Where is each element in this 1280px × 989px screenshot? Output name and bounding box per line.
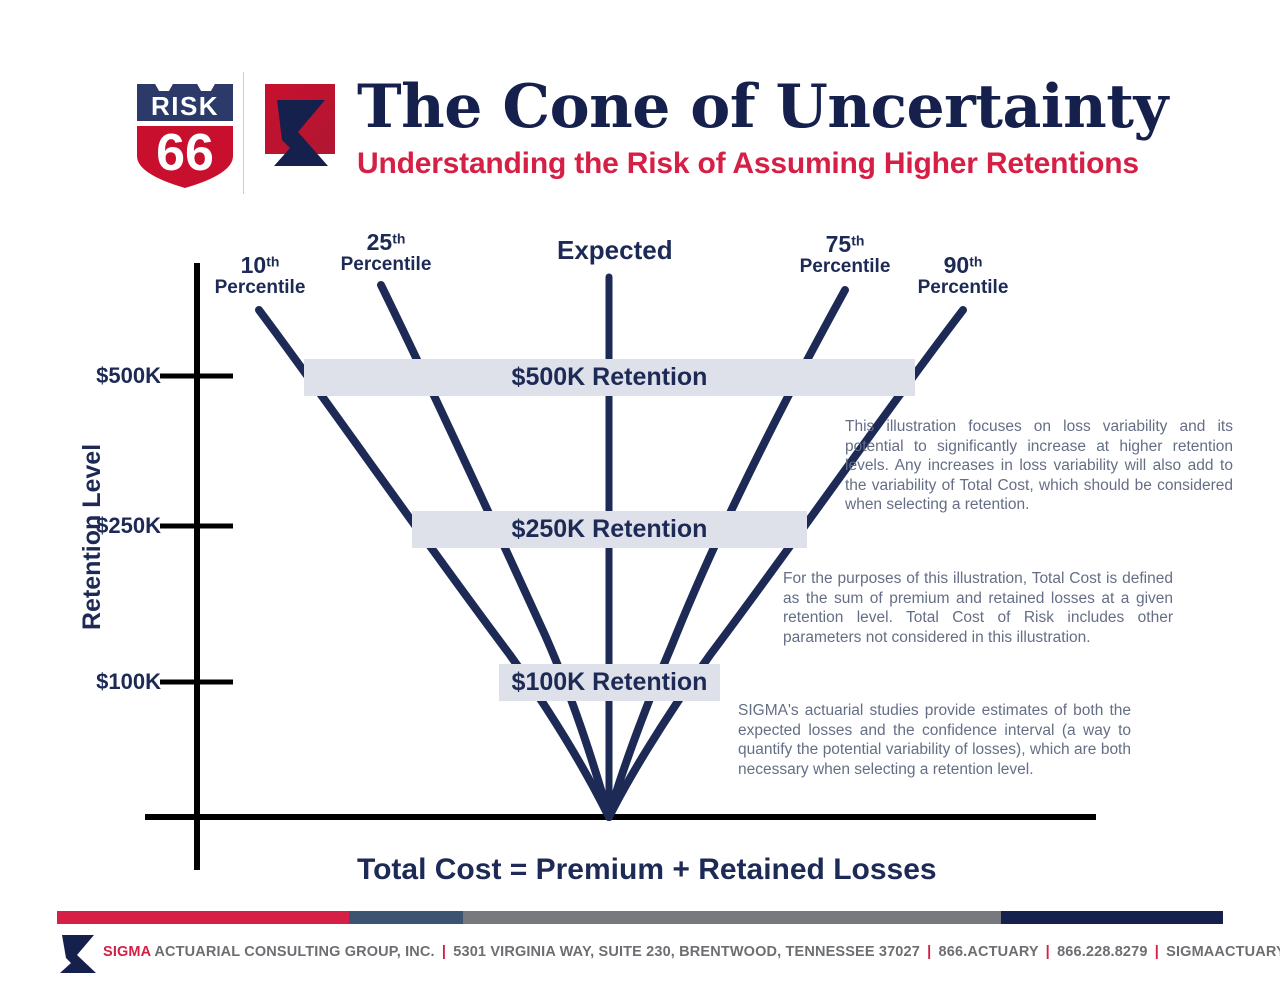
label-90th-suffix: th [969,254,982,270]
label-25th-number: 25 [367,229,393,255]
cone-chart: 10th Percentile 25th Percentile Expected… [0,205,1280,905]
footer-company: ACTUARIAL CONSULTING GROUP, INC. [151,944,439,960]
label-75th-word: Percentile [799,257,891,278]
footer-brand: SIGMA [103,944,151,960]
footer-rule-slate [349,911,463,924]
retention-band-250k: $250K Retention [412,511,807,548]
label-75th-number: 75 [826,231,852,257]
label-25th-percentile: 25th Percentile [340,230,432,275]
x-axis-title: Total Cost = Premium + Retained Losses [357,853,937,887]
footer-rule-navy [1001,911,1223,924]
label-10th-percentile: 10th Percentile [214,253,306,298]
footer-contact-line: SIGMA ACTUARIAL CONSULTING GROUP, INC. |… [103,944,1280,960]
retention-band-100k-label: $100K Retention [512,668,708,697]
label-90th-word: Percentile [917,278,1009,299]
label-10th-number: 10 [241,252,267,278]
footer-sigma-icon [58,932,98,976]
y-tick-label-500k: $500K [26,363,161,389]
page-subtitle: Understanding the Risk of Assuming Highe… [357,146,1217,182]
footer-address: 5301 VIRGINIA WAY, SUITE 230, BRENTWOOD,… [449,944,924,960]
note-total-cost-definition: For the purposes of this illustration, T… [783,569,1173,647]
label-90th-percentile: 90th Percentile [917,253,1009,298]
retention-band-100k: $100K Retention [499,664,720,701]
label-10th-suffix: th [266,254,279,270]
label-75th-percentile: 75th Percentile [799,232,891,277]
risk66-logo: RISK 66 [133,78,237,190]
infographic-page: RISK 66 The Cone of Uncertainty Understa… [0,0,1280,989]
y-axis-title: Retention Level [78,444,107,630]
y-tick-label-100k: $100K [26,669,161,695]
footer-rule-crimson [57,911,349,924]
footer-color-rule [57,911,1223,924]
footer-rule-gray [463,911,1002,924]
risk66-top-text: RISK [151,91,219,121]
footer-phone-word[interactable]: 866.ACTUARY [934,944,1042,960]
footer: SIGMA ACTUARIAL CONSULTING GROUP, INC. |… [0,905,1280,989]
label-25th-word: Percentile [340,255,432,276]
label-25th-suffix: th [392,231,405,247]
retention-band-500k-label: $500K Retention [512,363,708,392]
retention-band-250k-label: $250K Retention [512,515,708,544]
note-loss-variability: This illustration focuses on loss variab… [845,417,1233,515]
label-10th-word: Percentile [214,278,306,299]
header: RISK 66 The Cone of Uncertainty Understa… [0,0,1280,205]
sigma-logo-icon [260,82,342,172]
footer-sep-4: | [1152,944,1162,960]
title-block: The Cone of Uncertainty Understanding th… [357,74,1217,182]
label-75th-suffix: th [851,233,864,249]
label-expected: Expected [557,235,673,266]
label-90th-number: 90 [944,252,970,278]
header-divider [243,72,244,194]
footer-sep-1: | [439,944,449,960]
risk66-bottom-text: 66 [156,124,214,182]
footer-website[interactable]: SIGMAACTUARY.COM [1162,944,1280,960]
footer-sep-2: | [924,944,934,960]
footer-sep-3: | [1043,944,1053,960]
retention-band-500k: $500K Retention [304,359,915,396]
page-title: The Cone of Uncertainty [357,74,1217,140]
footer-phone-number[interactable]: 866.228.8279 [1053,944,1152,960]
note-sigma-studies: SIGMA's actuarial studies provide estima… [738,701,1131,779]
cone-chart-svg [0,205,1280,905]
